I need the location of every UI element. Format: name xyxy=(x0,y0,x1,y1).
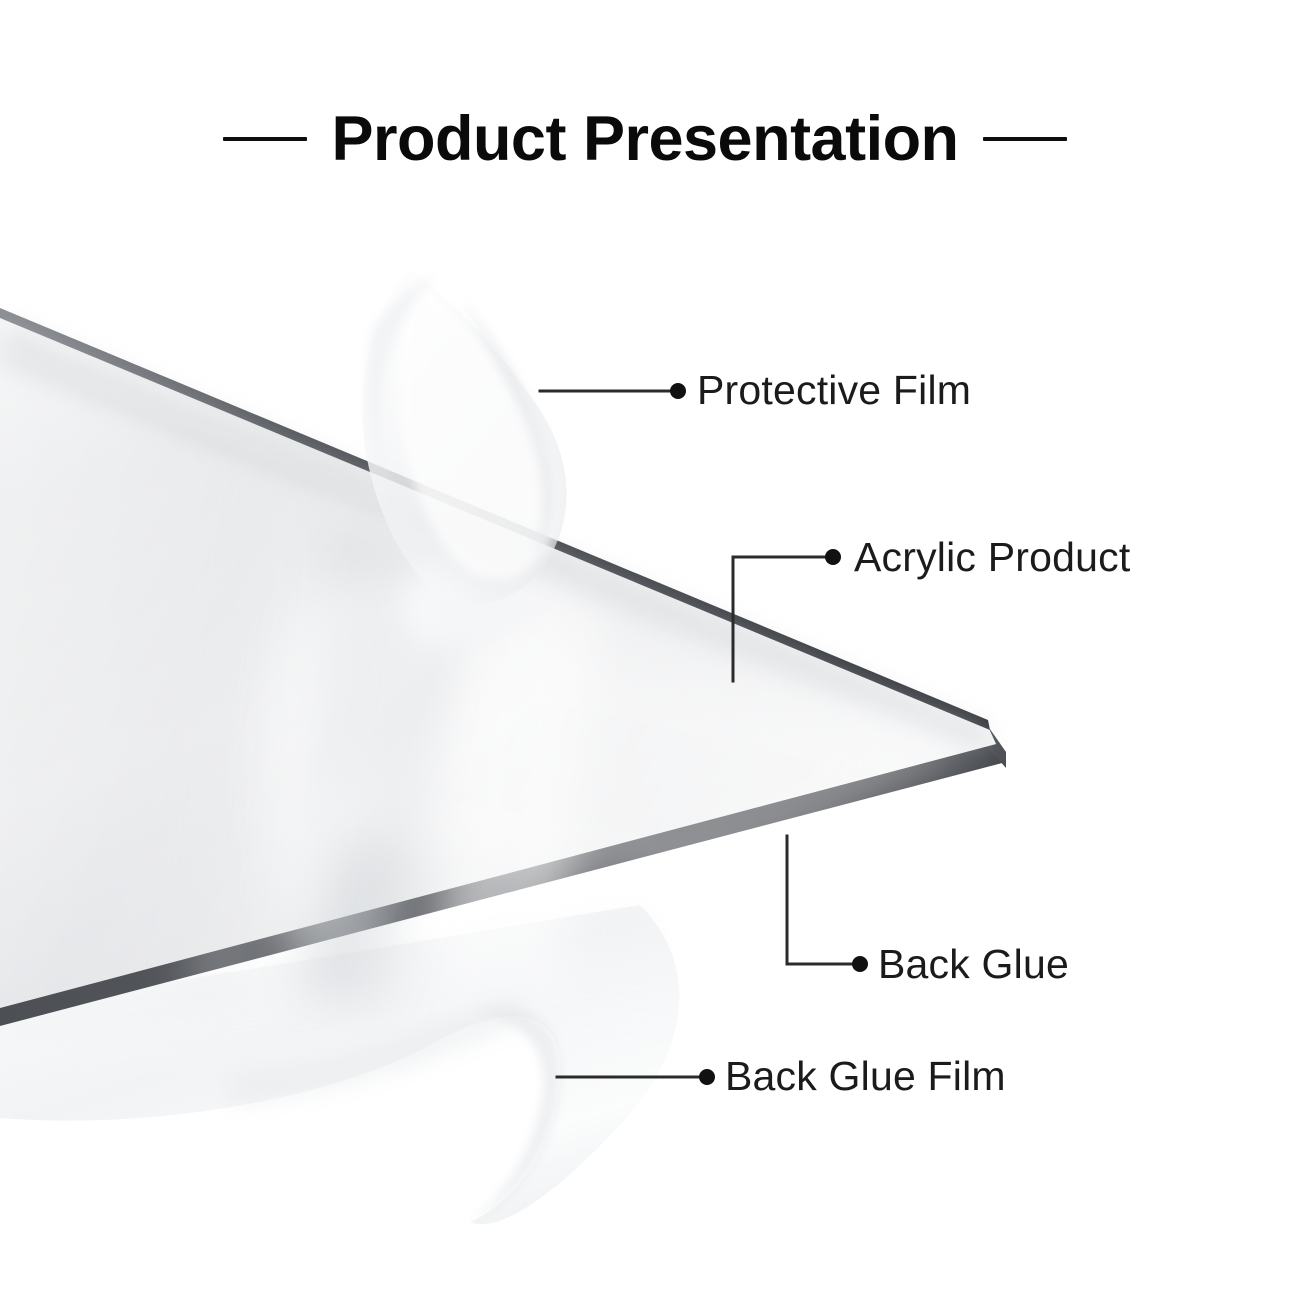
dot-back-glue-film xyxy=(699,1069,715,1085)
dot-protective-film xyxy=(670,383,686,399)
dot-acrylic-product xyxy=(825,549,841,565)
page-title: Product Presentation xyxy=(0,96,1290,182)
dot-back-glue xyxy=(852,956,868,972)
leader-back-glue xyxy=(787,836,858,964)
title-dash-right xyxy=(983,137,1067,141)
page-title-text: Product Presentation xyxy=(331,96,958,182)
callout-label-back-glue-film: Back Glue Film xyxy=(725,1056,1006,1097)
title-dash-left xyxy=(223,137,307,141)
callout-label-protective-film: Protective Film xyxy=(697,370,971,411)
callout-label-acrylic-product: Acrylic Product xyxy=(854,537,1130,578)
callout-label-back-glue: Back Glue xyxy=(878,944,1069,985)
product-presentation-image: Product Presentation Protective Film Acr… xyxy=(0,0,1290,1292)
acrylic-sheet-illustration xyxy=(0,0,1290,1292)
